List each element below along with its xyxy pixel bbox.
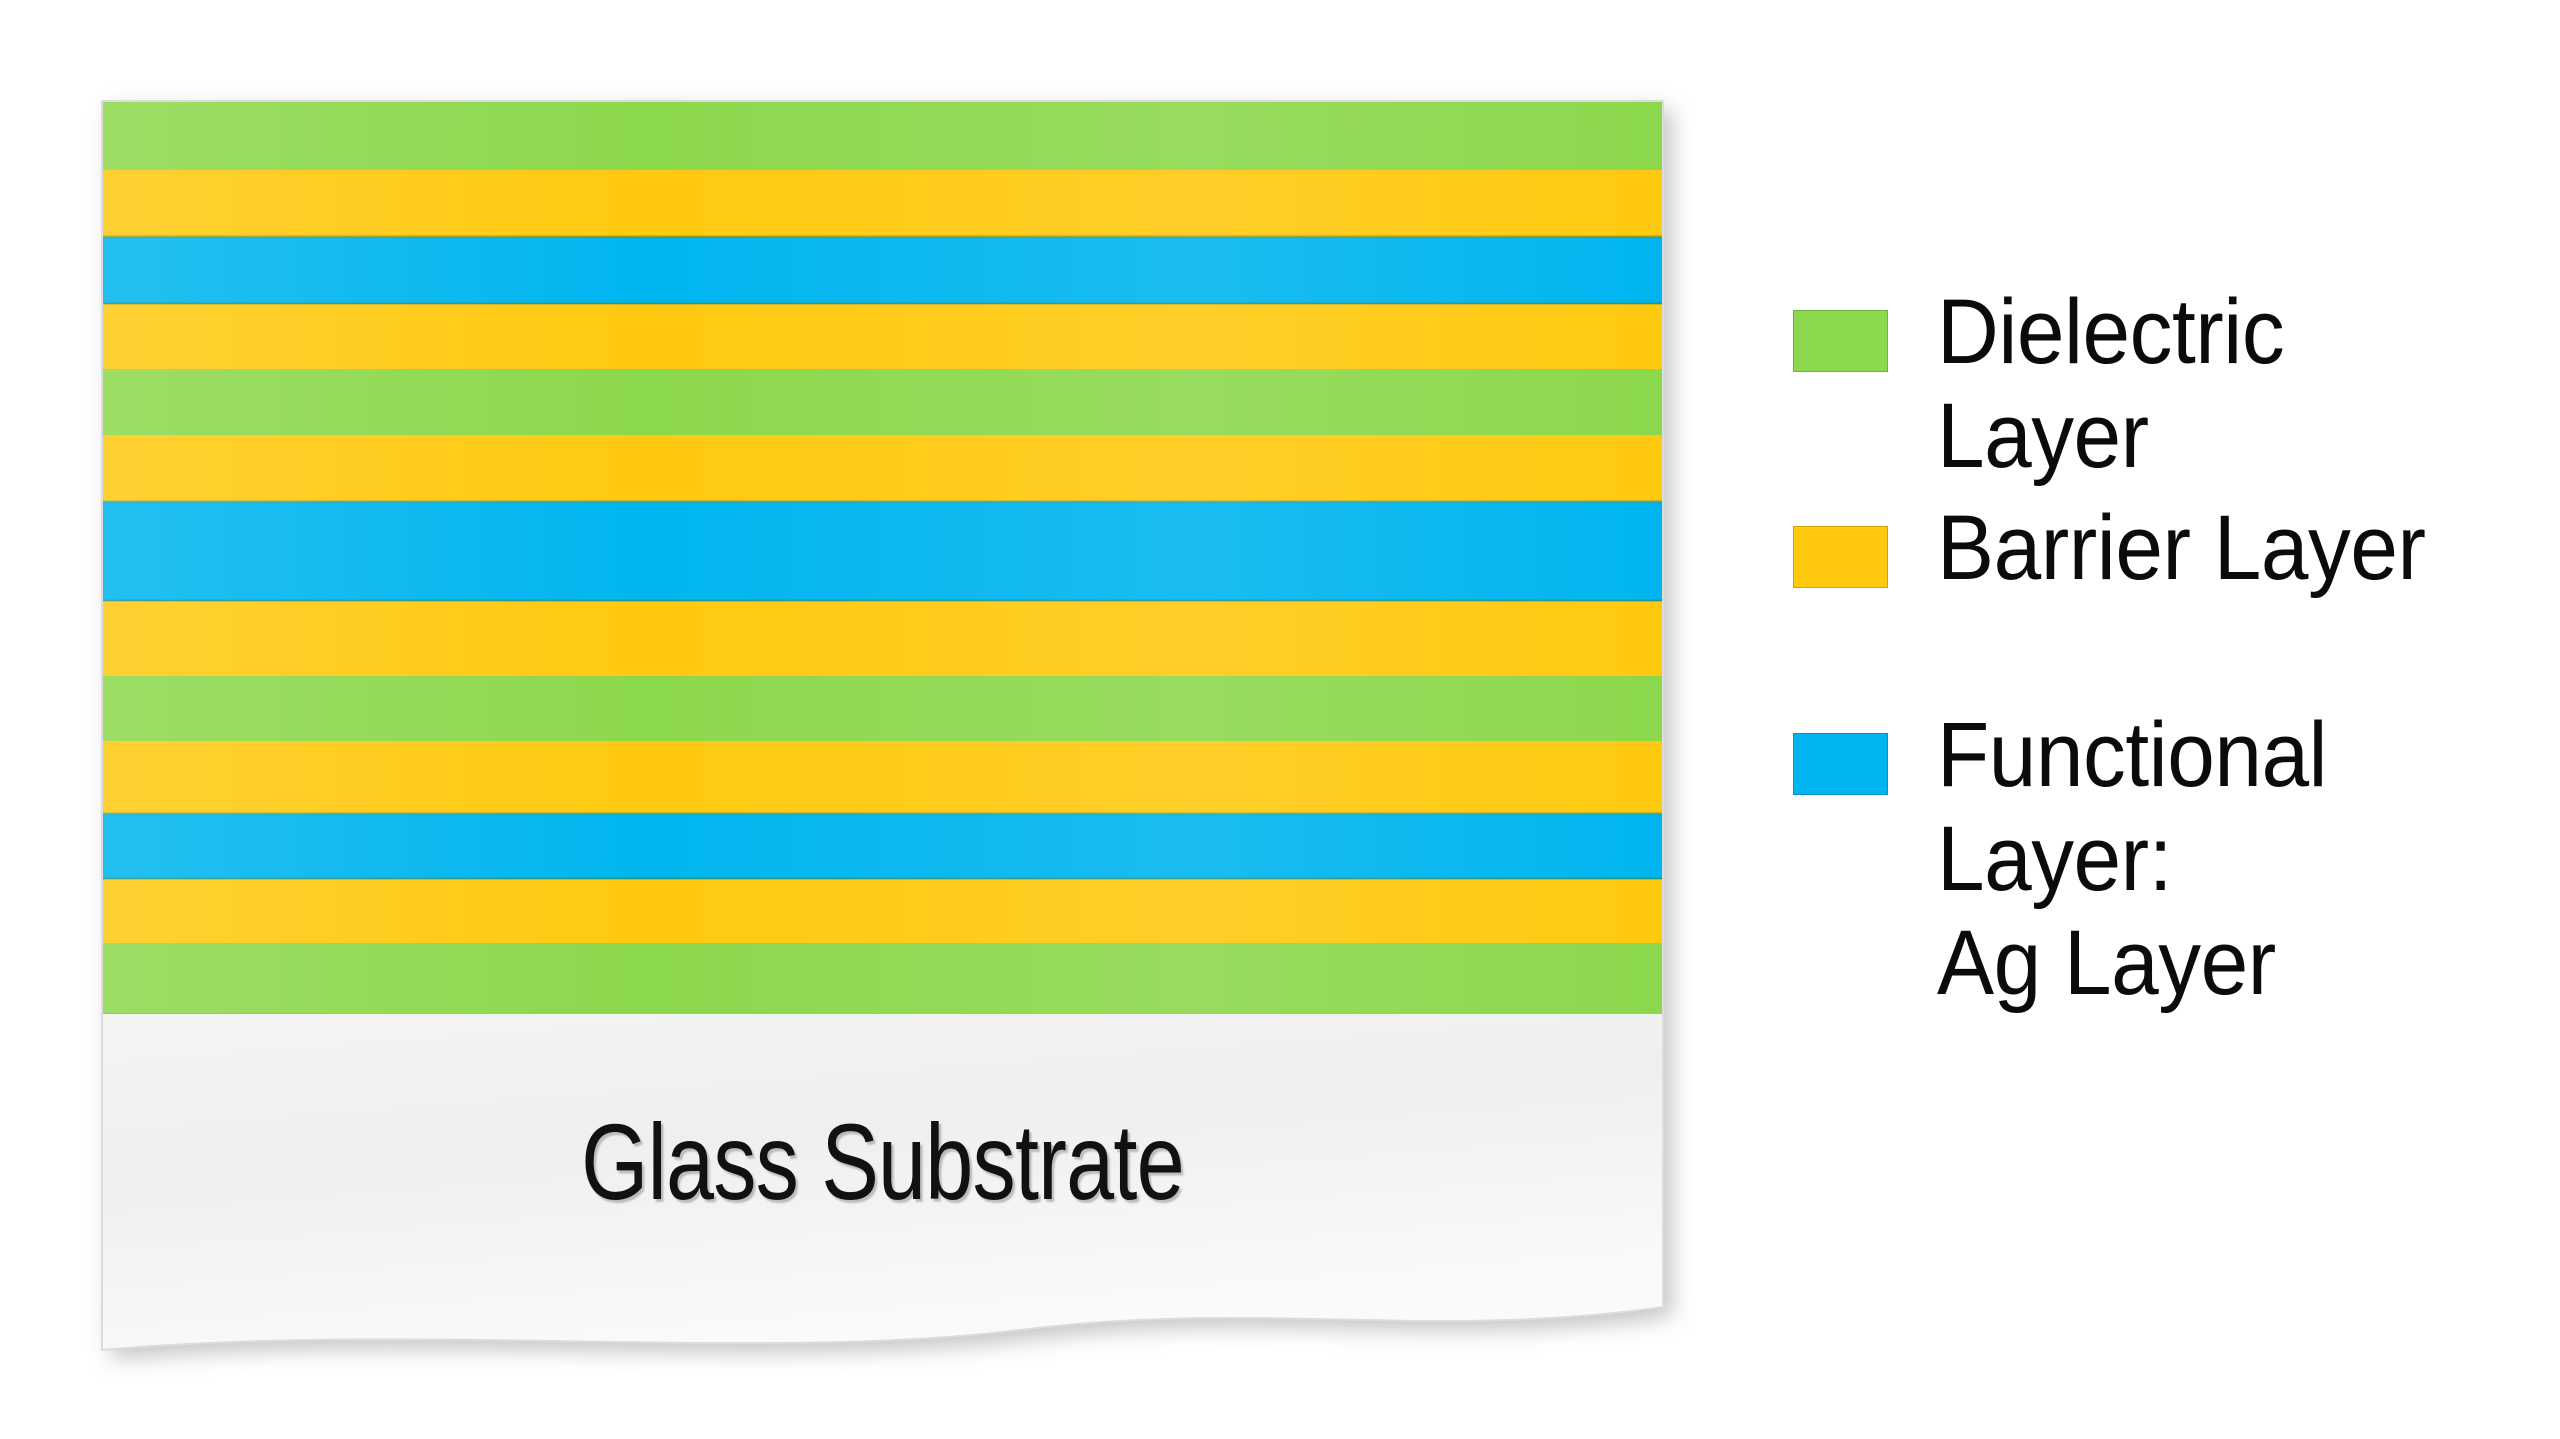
layer-stack-svg bbox=[0, 0, 1760, 1439]
glass-substrate-label: Glass Substrate bbox=[258, 1108, 1507, 1216]
coating-sheen bbox=[102, 101, 1663, 1013]
layer-stack-diagram: Glass Substrate bbox=[0, 0, 1760, 1439]
legend-label-functional-ag: Functional Layer: Ag Layer bbox=[1937, 703, 2510, 1015]
functional-ag-swatch-icon bbox=[1793, 733, 1888, 795]
dielectric-swatch-icon bbox=[1793, 310, 1888, 372]
barrier-swatch-icon bbox=[1793, 526, 1888, 588]
legend-label-barrier: Barrier Layer bbox=[1937, 496, 2425, 600]
legend-label-dielectric: Dielectric Layer bbox=[1937, 280, 2284, 488]
